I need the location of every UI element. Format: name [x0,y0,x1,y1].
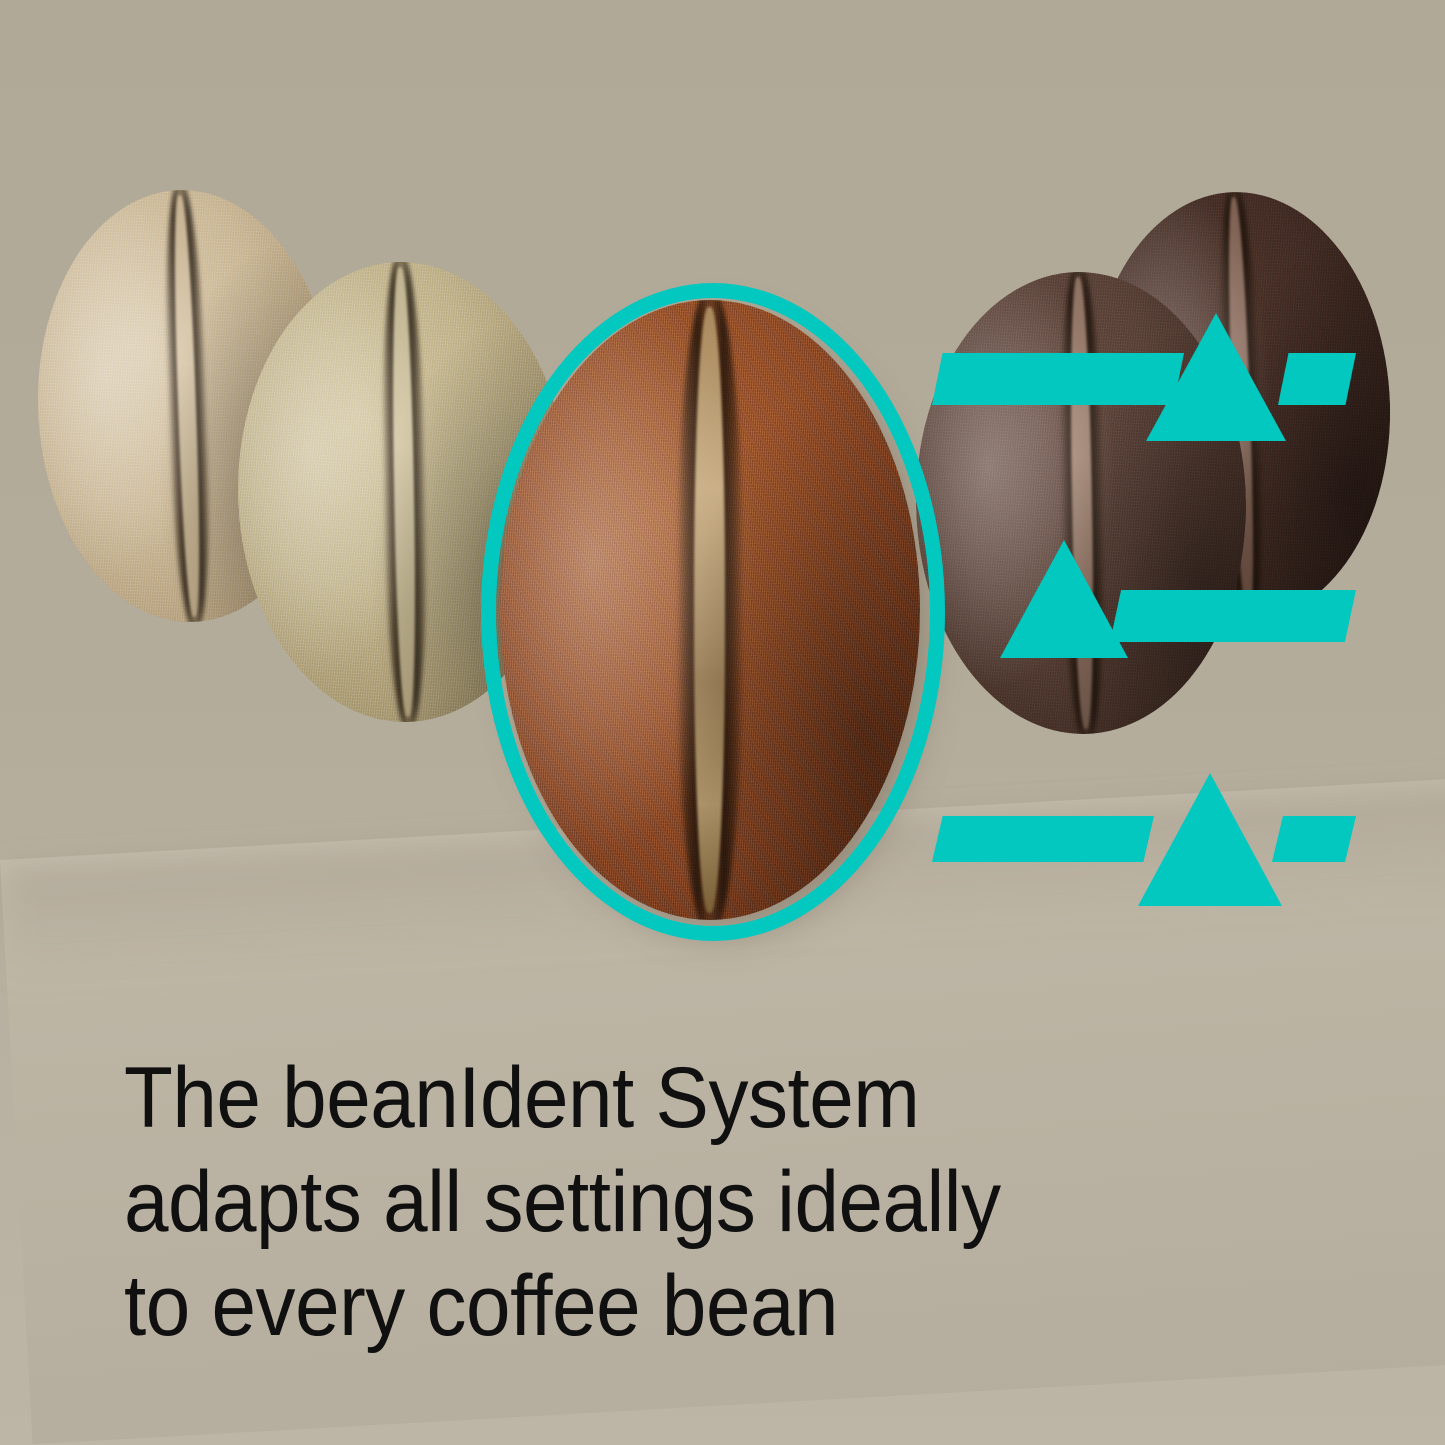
accent-bar-bottom-right [1272,816,1356,862]
accent-triangle-middle [1000,540,1128,658]
accent-triangle-bottom [1138,773,1282,906]
accent-bar-middle-right [1110,590,1356,642]
selection-oval-icon [481,283,945,941]
caption-text: The beanIdent System adapts all settings… [124,1046,1166,1358]
accent-bar-top-right [1278,353,1356,405]
accent-bar-bottom-left [932,816,1154,862]
accent-triangle-top [1146,313,1286,441]
promo-image-canvas: The beanIdent System adapts all settings… [0,0,1445,1445]
